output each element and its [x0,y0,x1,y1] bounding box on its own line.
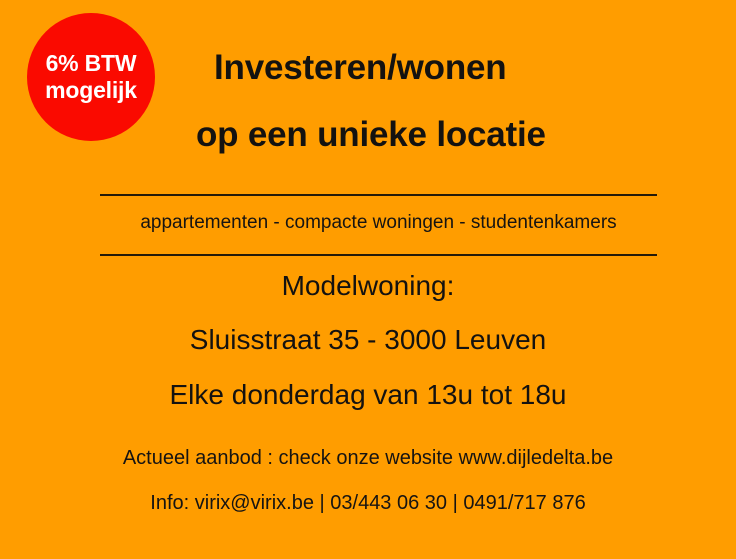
badge-line-2: mogelijk [45,77,137,104]
info-label-modelwoning: Modelwoning: [0,270,736,302]
info-address: Sluisstraat 35 - 3000 Leuven [0,324,736,356]
website-line: Actueel aanbod : check onze website www.… [0,447,736,470]
divider-rule-top [100,194,657,196]
info-opening-hours: Elke donderdag van 13u tot 18u [0,379,736,411]
headline: Investeren/wonen op een unieke locatie [196,48,696,155]
email-phone-line: Info: virix@virix.be | 03/443 06 30 | 04… [0,492,736,515]
headline-line-1: Investeren/wonen [214,48,696,88]
badge-line-1: 6% BTW [46,50,137,77]
categories-text: appartementen - compacte woningen - stud… [100,212,657,234]
divider-rule-bottom [100,254,657,256]
model-home-info: Modelwoning: Sluisstraat 35 - 3000 Leuve… [0,270,736,411]
contact-info: Actueel aanbod : check onze website www.… [0,447,736,515]
headline-line-2: op een unieke locatie [196,115,696,155]
btw-badge: 6% BTW mogelijk [27,13,155,141]
advertisement-poster: 6% BTW mogelijk Investeren/wonen op een … [0,0,736,559]
